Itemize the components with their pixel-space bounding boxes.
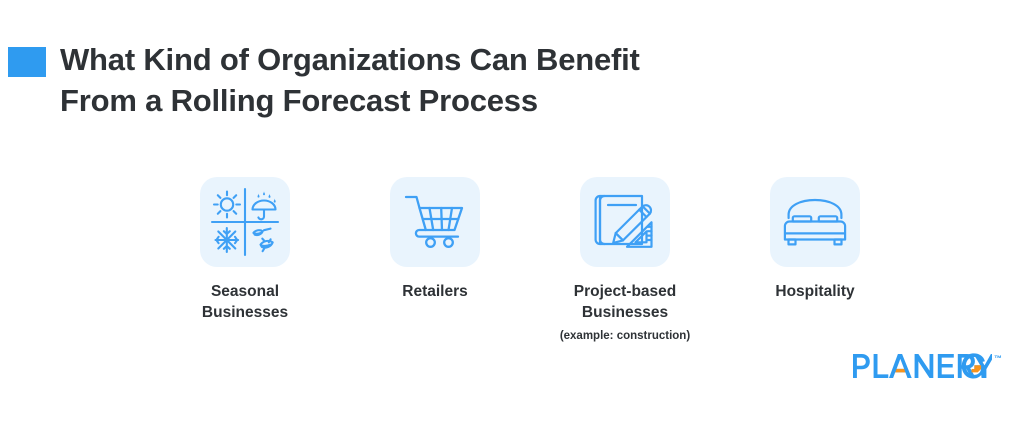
card-project-based-businesses: Project-based Businesses (example: const…	[530, 177, 720, 344]
card-label-line-1: Project-based	[574, 282, 677, 303]
card-label-line-1: Retailers	[402, 282, 467, 303]
card-label-retailers: Retailers	[402, 282, 467, 303]
four-seasons-icon	[208, 185, 282, 259]
card-label-seasonal: Seasonal Businesses	[202, 282, 288, 324]
planergy-logo: ™	[853, 353, 1002, 383]
card-label-line-1: Seasonal	[202, 282, 288, 303]
card-label-project-based: Project-based Businesses	[574, 282, 677, 324]
card-row: Seasonal Businesses	[150, 177, 910, 344]
card-label-line-1: Hospitality	[775, 282, 854, 303]
icon-tile-hospitality	[770, 177, 860, 267]
icon-tile-project-based	[580, 177, 670, 267]
icon-tile-retailers	[390, 177, 480, 267]
card-label-hospitality: Hospitality	[775, 282, 854, 303]
icon-tile-seasonal	[200, 177, 290, 267]
logo-wordmark	[853, 353, 992, 383]
trademark-symbol: ™	[994, 354, 1002, 363]
header: What Kind of Organizations Can Benefit F…	[0, 40, 1024, 122]
card-hospitality: Hospitality	[720, 177, 910, 303]
card-sublabel-project-based: (example: construction)	[560, 329, 690, 344]
card-label-line-2: Businesses	[202, 303, 288, 324]
planergy-wordmark-icon	[853, 353, 992, 379]
blueprint-pencil-ruler-icon	[591, 188, 659, 256]
card-label-line-2: Businesses	[574, 303, 677, 324]
infographic-slide: What Kind of Organizations Can Benefit F…	[0, 0, 1024, 427]
accent-square-decoration	[8, 47, 46, 77]
bed-icon	[781, 196, 849, 248]
title-line-2: From a Rolling Forecast Process	[60, 81, 640, 122]
card-retailers: Retailers	[340, 177, 530, 303]
shopping-cart-icon	[403, 191, 467, 253]
card-seasonal-businesses: Seasonal Businesses	[150, 177, 340, 324]
page-title: What Kind of Organizations Can Benefit F…	[60, 40, 640, 122]
title-line-1: What Kind of Organizations Can Benefit	[60, 40, 640, 81]
